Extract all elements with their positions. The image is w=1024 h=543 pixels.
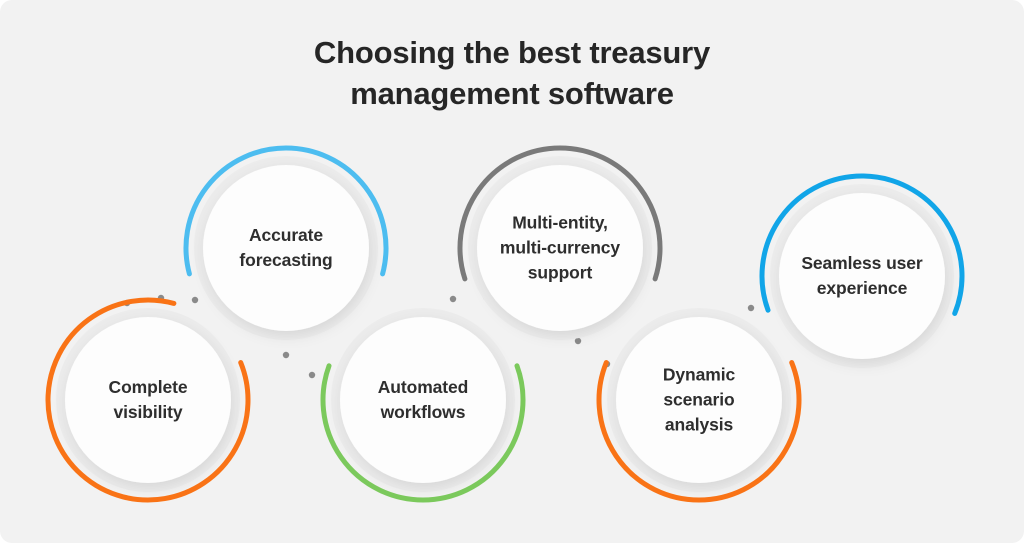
node-disc (340, 317, 506, 483)
connector-dot (309, 372, 315, 378)
node-automated-workflows[interactable] (323, 308, 523, 500)
infographic-canvas: Choosing the best treasury management so… (0, 0, 1024, 543)
node-disc (203, 165, 369, 331)
node-disc (477, 165, 643, 331)
node-circles-group (48, 148, 962, 500)
node-disc (616, 317, 782, 483)
node-disc (65, 317, 231, 483)
node-seamless-user-experience[interactable] (762, 176, 962, 368)
node-multi-entity-multi-currency-support[interactable] (460, 148, 660, 340)
connector-dot (192, 297, 198, 303)
connector-dot (575, 338, 581, 344)
diagram-graphics-layer (0, 0, 1024, 543)
node-dynamic-scenario-analysis[interactable] (599, 308, 799, 500)
node-complete-visibility[interactable] (48, 300, 248, 500)
node-disc (779, 193, 945, 359)
connector-dot (748, 305, 754, 311)
node-accurate-forecasting[interactable] (186, 148, 386, 340)
connector-dot (283, 352, 289, 358)
connector-dot (450, 296, 456, 302)
